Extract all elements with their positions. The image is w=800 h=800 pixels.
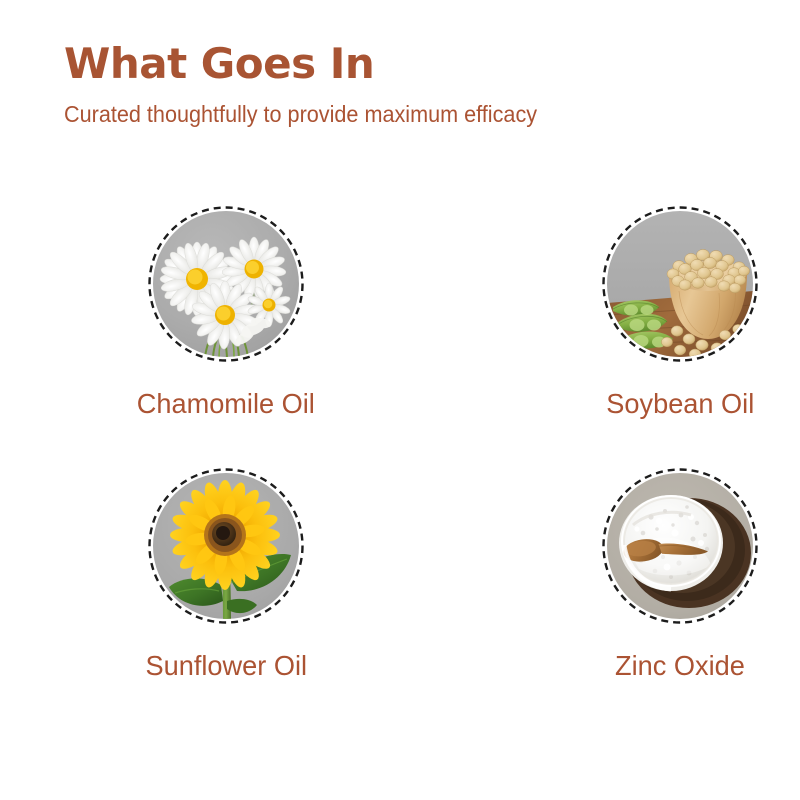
dashed-ring-border (146, 466, 306, 626)
ingredient-grid: Chamomile Oil (0, 190, 800, 714)
page-subtitle: Curated thoughtfully to provide maximum … (64, 86, 722, 127)
ingredient-card-soybean-oil: Soybean Oil (400, 190, 800, 452)
ingredient-label: Chamomile Oil (137, 388, 315, 420)
ingredients-infographic: What Goes In Curated thoughtfully to pro… (0, 0, 800, 800)
ingredient-label: Sunflower Oil (145, 650, 307, 682)
page-title: What Goes In (64, 42, 764, 86)
ingredient-image-soybean-oil (600, 204, 760, 364)
ingredient-card-chamomile-oil: Chamomile Oil (0, 190, 400, 452)
ingredient-image-chamomile-oil (146, 204, 306, 364)
dashed-ring-border (600, 204, 760, 364)
ingredient-card-sunflower-oil: Sunflower Oil (0, 452, 400, 714)
ingredient-image-sunflower-oil (146, 466, 306, 626)
ingredient-card-zinc-oxide: Zinc Oxide (400, 452, 800, 714)
header: What Goes In Curated thoughtfully to pro… (64, 42, 764, 127)
ingredient-image-zinc-oxide (600, 466, 760, 626)
ingredient-label: Soybean Oil (606, 388, 754, 420)
dashed-ring-border (600, 466, 760, 626)
dashed-ring-border (146, 204, 306, 364)
ingredient-label: Zinc Oxide (615, 650, 745, 682)
